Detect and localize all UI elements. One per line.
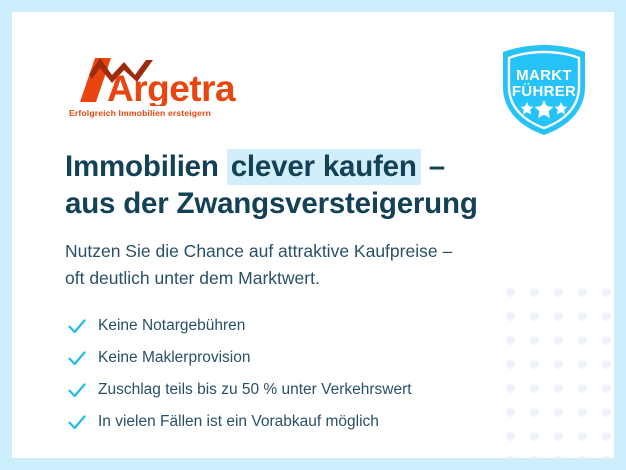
- headline-line2: aus der Zwangsversteigerung: [65, 187, 478, 220]
- dot: [602, 432, 611, 441]
- dot: [602, 336, 611, 345]
- dot: [578, 288, 587, 297]
- dot: [554, 360, 563, 369]
- svg-text:Argetra: Argetra: [107, 68, 236, 106]
- dot: [506, 456, 515, 459]
- dot: [602, 456, 611, 459]
- list-item: Keine Notargebühren: [66, 310, 536, 342]
- dot: [554, 408, 563, 417]
- dot: [554, 384, 563, 393]
- shield-badge-icon: MARKT FÜHRER: [499, 43, 589, 137]
- headline-part2: –: [421, 150, 445, 183]
- dot: [530, 456, 539, 459]
- dot: [602, 360, 611, 369]
- promo-card: Argetra Erfolgreich Immobilien ersteiger…: [12, 12, 614, 458]
- dot: [602, 312, 611, 321]
- headline-part1: Immobilien: [65, 150, 227, 183]
- brand-logo[interactable]: Argetra Erfolgreich Immobilien ersteiger…: [67, 56, 267, 122]
- check-icon: [66, 347, 88, 369]
- dot: [602, 408, 611, 417]
- brand-tagline: Erfolgreich Immobilien ersteigern: [69, 108, 211, 118]
- dot: [554, 312, 563, 321]
- badge-line2: FÜHRER: [512, 83, 576, 100]
- dot: [602, 288, 611, 297]
- list-item: Zuschlag teils bis zu 50 % unter Verkehr…: [66, 374, 536, 406]
- promo-banner: Argetra Erfolgreich Immobilien ersteiger…: [0, 0, 626, 470]
- dot: [578, 408, 587, 417]
- page-subtitle: Nutzen Sie die Chance auf attraktive Kau…: [65, 238, 565, 292]
- dot: [554, 336, 563, 345]
- check-icon: [66, 315, 88, 337]
- check-icon: [66, 411, 88, 433]
- list-item-label: Keine Maklerprovision: [98, 348, 251, 368]
- list-item: Keine Maklerprovision: [66, 342, 536, 374]
- headline-highlight: clever kaufen: [227, 149, 421, 185]
- subtitle-line2: oft deutlich unter dem Marktwert.: [65, 268, 320, 288]
- dot: [578, 456, 587, 459]
- list-item-label: Zuschlag teils bis zu 50 % unter Verkehr…: [98, 380, 412, 400]
- benefits-list: Keine Notargebühren Keine Maklerprovisio…: [66, 310, 536, 438]
- check-icon: [66, 379, 88, 401]
- page-title: Immobilien clever kaufen – aus der Zwang…: [65, 148, 565, 222]
- subtitle-line1: Nutzen Sie die Chance auf attraktive Kau…: [65, 241, 452, 261]
- dot: [602, 384, 611, 393]
- dot: [578, 384, 587, 393]
- list-item-label: Keine Notargebühren: [98, 316, 245, 336]
- badge-line1: MARKT: [516, 67, 572, 84]
- dot: [554, 456, 563, 459]
- dot: [578, 360, 587, 369]
- argetra-roof-logo-icon: Argetra: [67, 56, 267, 106]
- dot: [578, 312, 587, 321]
- dot: [578, 336, 587, 345]
- dot: [554, 432, 563, 441]
- list-item: In vielen Fällen ist ein Vorabkauf mögli…: [66, 406, 536, 438]
- dot: [578, 432, 587, 441]
- list-item-label: In vielen Fällen ist ein Vorabkauf mögli…: [98, 412, 379, 432]
- market-leader-badge: MARKT FÜHRER: [499, 43, 589, 137]
